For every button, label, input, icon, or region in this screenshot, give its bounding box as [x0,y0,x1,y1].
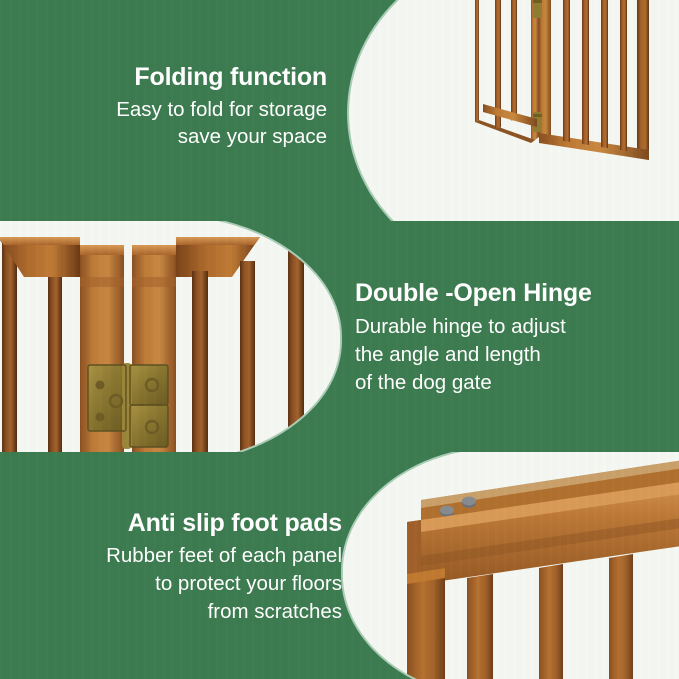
folding-function-text-block: Folding function Easy to fold for storag… [116,62,327,150]
feature-section-double-open-hinge: Double -Open Hinge Durable hinge to adju… [0,221,679,452]
left-rail-top-face [0,237,80,245]
anti-slip-foot-pad-closeup-photo [341,452,679,679]
hinge-illustration [0,221,280,446]
wooden-gate-illustration [453,0,679,169]
foot-pad-illustration [343,452,679,679]
anti-slip-foot-pads-line-1: Rubber feet of each panel [106,542,342,570]
double-open-hinge-line-2: the angle and length [355,341,592,369]
double-open-hinge-line-1: Durable hinge to adjust [355,313,592,341]
feature-section-anti-slip-foot-pads: Anti slip foot pads Rubber feet of each … [0,452,679,679]
gate-svg [453,0,679,169]
feature-section-folding-function: Folding function Easy to fold for storag… [0,0,679,221]
baluster [539,564,563,679]
right-rail-top-face [176,237,260,245]
product-feature-infographic: Folding function Easy to fold for storag… [0,0,679,679]
brass-hinge-closeup-photo [0,221,342,452]
anti-slip-foot-pads-line-2: to protect your floors [106,570,342,598]
folding-function-title: Folding function [116,62,327,92]
baluster [609,554,633,679]
background-slat [192,271,208,452]
folding-function-line-1: Easy to fold for storage [116,96,327,123]
anti-slip-foot-pads-text-block: Anti slip foot pads Rubber feet of each … [106,508,342,626]
background-slat [2,237,17,452]
gate-main-panel [539,0,649,160]
double-open-hinge-text-block: Double -Open Hinge Durable hinge to adju… [355,278,592,397]
hinge-svg [0,221,340,452]
folded-wooden-gate-photo [347,0,679,221]
footpad-svg [343,452,679,679]
left-stile [407,568,445,679]
anti-slip-foot-pads-title: Anti slip foot pads [106,508,342,538]
background-slat [240,261,255,452]
folding-function-line-2: save your space [116,123,327,150]
anti-slip-foot-pads-line-3: from scratches [106,598,342,626]
baluster [467,574,493,679]
double-open-hinge-line-3: of the dog gate [355,369,592,397]
double-open-hinge-title: Double -Open Hinge [355,278,592,308]
background-slat [288,249,304,452]
